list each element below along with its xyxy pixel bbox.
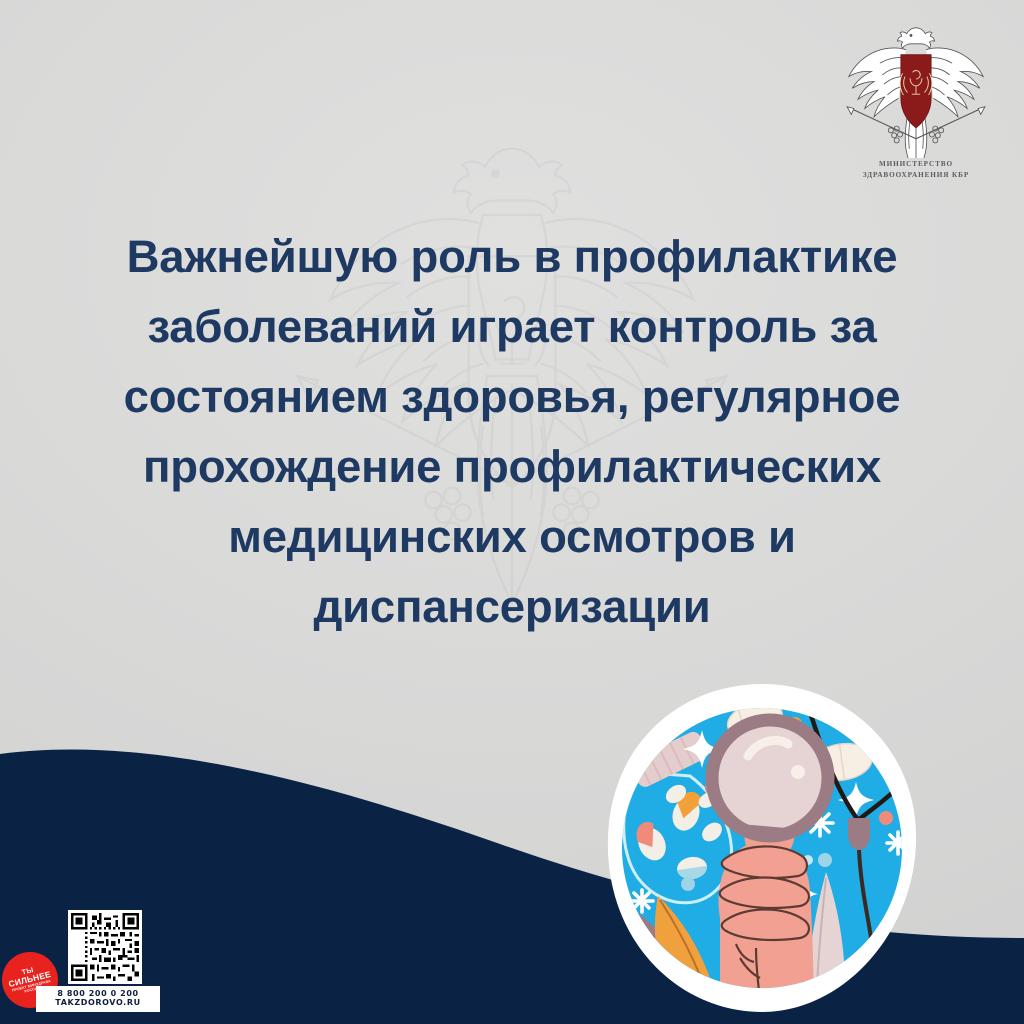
hotline-site: TAKZDOROVO.RU	[55, 999, 140, 1008]
magnifying-glass-icon	[712, 720, 828, 839]
ministry-logo: МИНИСТЕРСТВО ЗДРАВООХРАНЕНИЯ КБР	[832, 22, 1000, 194]
dot-lightblue	[681, 877, 695, 891]
poster-canvas: МИНИСТЕРСТВО ЗДРАВООХРАНЕНИЯ КБР Важнейш…	[0, 0, 1024, 1024]
ministry-name-line1: МИНИСТЕРСТВО	[832, 159, 1000, 169]
hotline-label: 8 800 200 0 200 TAKZDOROVO.RU	[36, 986, 160, 1012]
promo-block: ТЫ СИЛЬНЕЕ ПРОЕКТ МИНЗДРАВА РОССИИ 8 800…	[0, 896, 250, 1016]
dot-coral-2	[879, 811, 893, 825]
health-checkup-illustration	[580, 672, 940, 1024]
page-headline: Важнейшую роль в профилактике заболевани…	[30, 222, 994, 642]
takzdorovo-qr-code[interactable]	[68, 910, 142, 984]
ministry-eagle-emblem-icon	[832, 22, 1000, 158]
dot-lightblue-2	[818, 853, 832, 867]
ministry-name-line2: ЗДРАВООХРАНЕНИЯ КБР	[832, 170, 1000, 180]
stethoscope-chestpiece	[848, 818, 870, 850]
